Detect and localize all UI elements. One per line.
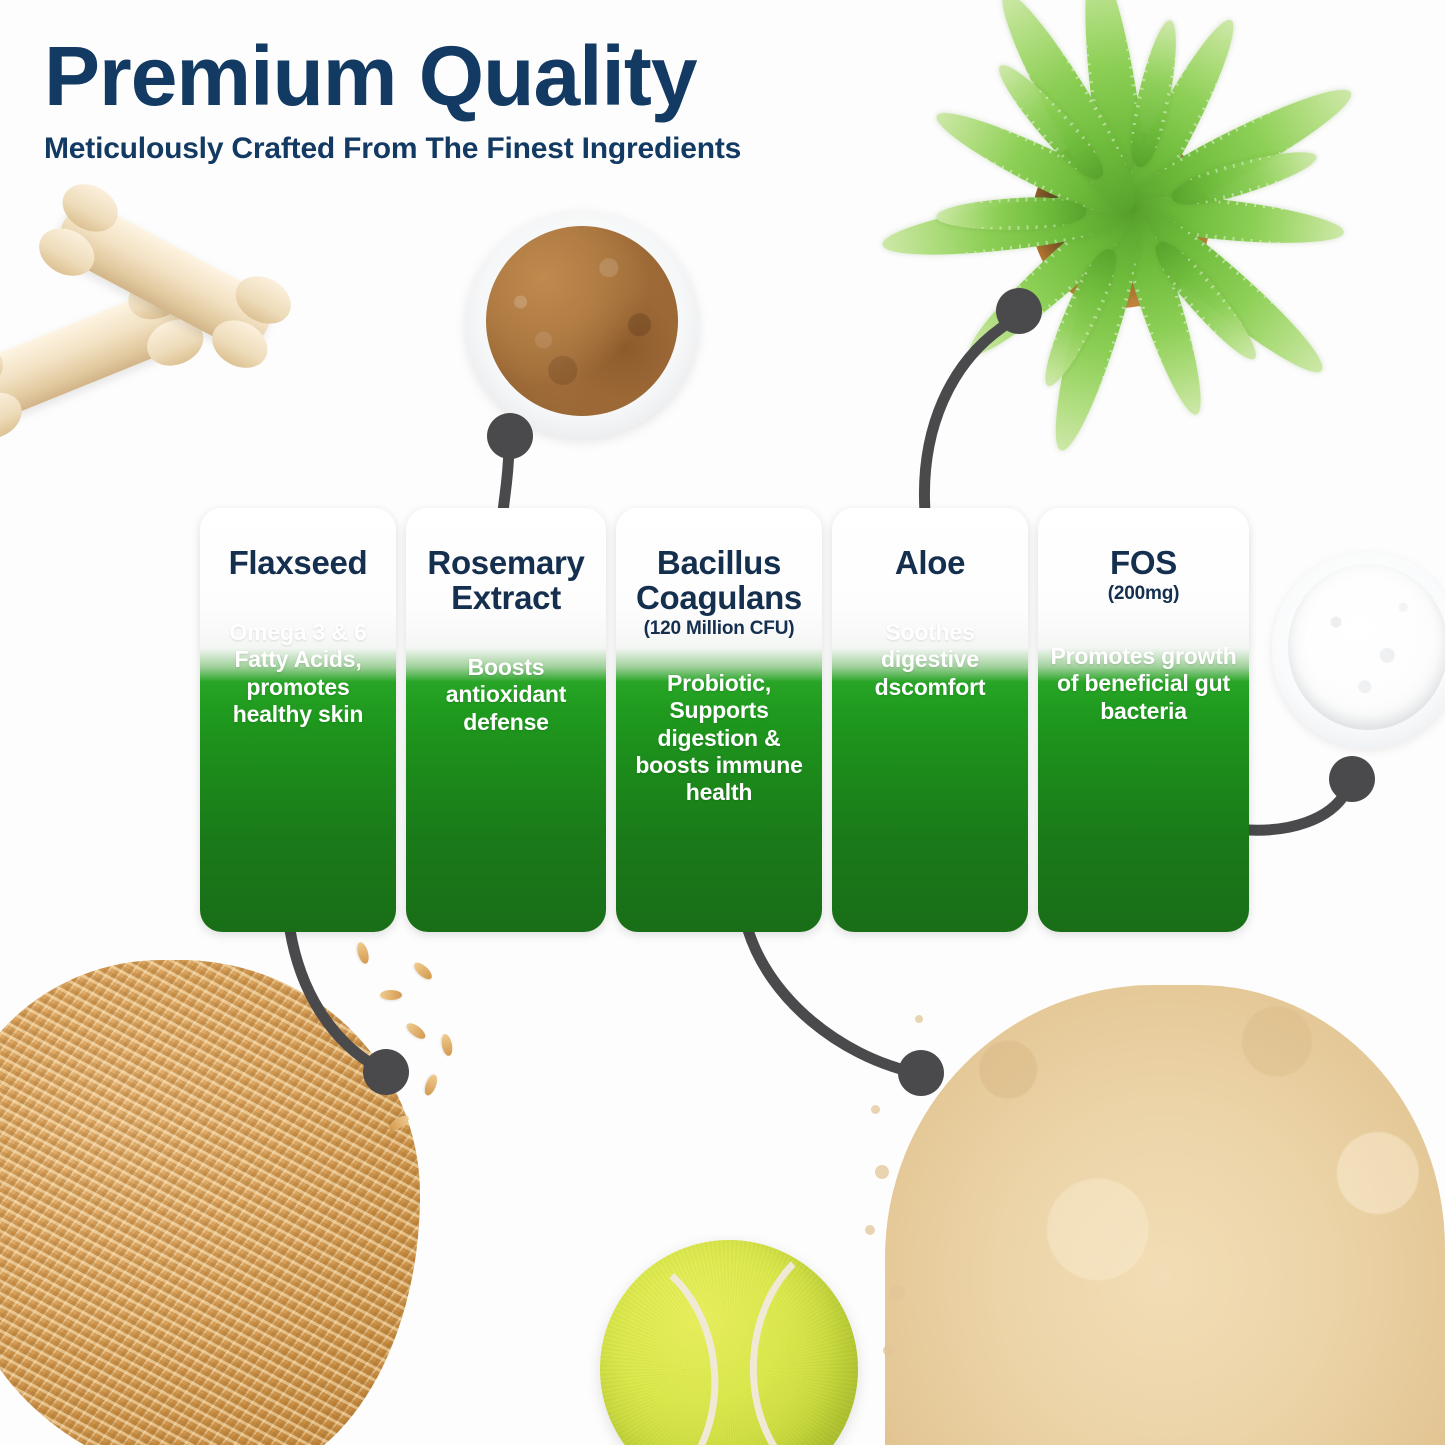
- glass-bowl: [1272, 552, 1445, 748]
- card-header: Aloe: [832, 508, 1028, 581]
- powder-speck: [883, 1345, 894, 1356]
- headline-block: Premium Quality Meticulously Crafted Fro…: [44, 34, 924, 165]
- card-title: Bacillus Coagulans: [624, 546, 814, 616]
- aloe-leaf: [988, 55, 1112, 188]
- bone-treat: [0, 284, 193, 428]
- bone-knob: [54, 175, 126, 241]
- flaxseed: [440, 1033, 454, 1057]
- ingredient-card-fos[interactable]: FOS (200mg) Promotes growth of beneficia…: [1038, 508, 1249, 932]
- ingredient-card-flaxseed[interactable]: Flaxseed Omega 3 & 6 Fatty Acids, promot…: [200, 508, 396, 932]
- page-title: Premium Quality: [44, 34, 924, 120]
- bone-knob: [140, 311, 210, 374]
- flaxseed: [404, 1020, 428, 1041]
- ingredient-card-rosemary-extract[interactable]: Rosemary Extract Boosts antioxidant defe…: [406, 508, 606, 932]
- aloe-leaf: [928, 98, 1139, 228]
- bone-knob: [31, 219, 103, 285]
- card-subtitle: (120 Million CFU): [624, 618, 814, 640]
- powder-speck: [865, 1225, 875, 1235]
- aloe-leaf: [936, 196, 1087, 233]
- aloe-leaf: [879, 187, 1133, 267]
- card-body-text: Soothes digestive dscomfort: [832, 619, 1028, 701]
- aloe-leaf: [1112, 11, 1248, 220]
- connector-fos-bowl: [1248, 756, 1375, 830]
- powder-speck: [871, 1105, 880, 1114]
- ball-seam: [741, 1225, 963, 1445]
- rosemary-powder-bowl-image: [466, 212, 698, 438]
- ball-fuzz: [600, 1240, 858, 1445]
- powder-mound: [885, 985, 1445, 1445]
- bone-knob: [0, 385, 29, 448]
- flaxseed-pile-image: [0, 930, 470, 1445]
- aloe-leaf: [1168, 141, 1321, 213]
- flaxseed-mass: [0, 960, 420, 1445]
- card-subtitle: (200mg): [1046, 583, 1241, 605]
- glass-bowl: [466, 212, 698, 438]
- card-body-text: Promotes growth of beneficial gut bacter…: [1038, 643, 1249, 725]
- card-body-text: Omega 3 & 6 Fatty Acids, promotes health…: [200, 619, 396, 728]
- connector-beige-powder: [748, 930, 944, 1096]
- card-header: FOS (200mg): [1038, 508, 1249, 605]
- flaxseed: [365, 1069, 388, 1081]
- aloe-leaf: [1072, 0, 1152, 213]
- ingredient-card-aloe[interactable]: Aloe Soothes digestive dscomfort: [832, 508, 1028, 932]
- aloe-leaf: [1115, 192, 1336, 388]
- aloe-leaf: [1128, 190, 1346, 252]
- flaxseed: [380, 990, 402, 1000]
- dog-bone-treats-image: [0, 205, 280, 525]
- ball-seam: [501, 1236, 731, 1445]
- bone-knob: [0, 338, 10, 401]
- powder-speck: [875, 1165, 889, 1179]
- brown-powder: [486, 226, 678, 416]
- connector-flaxseed-pile: [290, 930, 409, 1095]
- bone-knob: [121, 265, 191, 328]
- bone-treat: [49, 195, 281, 358]
- flaxseed: [355, 941, 371, 965]
- card-title: FOS: [1046, 546, 1241, 581]
- bone-knob: [227, 267, 299, 333]
- connector-rosemary-bowl: [487, 413, 533, 512]
- flaxseed: [387, 1113, 411, 1133]
- powder-speck: [889, 1285, 905, 1301]
- aloe-leaf: [1146, 233, 1267, 368]
- white-powder: [1288, 564, 1445, 730]
- aloe-leaf: [1119, 72, 1361, 230]
- card-header: Bacillus Coagulans (120 Million CFU): [616, 508, 822, 640]
- ball-body: [600, 1240, 858, 1445]
- tennis-ball-image: [600, 1240, 858, 1445]
- card-title: Aloe: [840, 546, 1020, 581]
- powder-speck: [905, 1065, 917, 1077]
- aloe-leaf: [985, 0, 1150, 221]
- aloe-leaf: [957, 195, 1144, 369]
- bone-knob: [204, 311, 276, 377]
- card-header: Rosemary Extract: [406, 508, 606, 616]
- card-header: Flaxseed: [200, 508, 396, 581]
- ingredient-card-bacillus-coagulans[interactable]: Bacillus Coagulans (120 Million CFU) Pro…: [616, 508, 822, 932]
- aloe-leaf: [1034, 243, 1126, 392]
- fos-powder-bowl-image: [1272, 552, 1445, 748]
- card-title: Flaxseed: [208, 546, 388, 581]
- page-subtitle: Meticulously Crafted From The Finest Ing…: [44, 132, 924, 165]
- beige-powder-pile-image: [865, 985, 1445, 1445]
- card-body-text: Boosts antioxidant defense: [406, 654, 606, 736]
- aloe-leaf: [1123, 17, 1185, 170]
- card-title: Rosemary Extract: [414, 546, 598, 616]
- aloe-leaf: [1039, 204, 1152, 457]
- terracotta-pot: [1032, 130, 1210, 308]
- aloe-leaf: [1111, 204, 1215, 421]
- card-body-text: Probiotic, Supports digestion & boosts i…: [616, 670, 822, 807]
- flaxseed: [411, 960, 434, 982]
- ingredient-card-row: Flaxseed Omega 3 & 6 Fatty Acids, promot…: [200, 508, 1255, 932]
- connector-aloe-plant: [924, 288, 1042, 512]
- powder-speck: [915, 1015, 923, 1023]
- flaxseed: [422, 1073, 439, 1097]
- infographic-canvas: Premium Quality Meticulously Crafted Fro…: [0, 0, 1445, 1445]
